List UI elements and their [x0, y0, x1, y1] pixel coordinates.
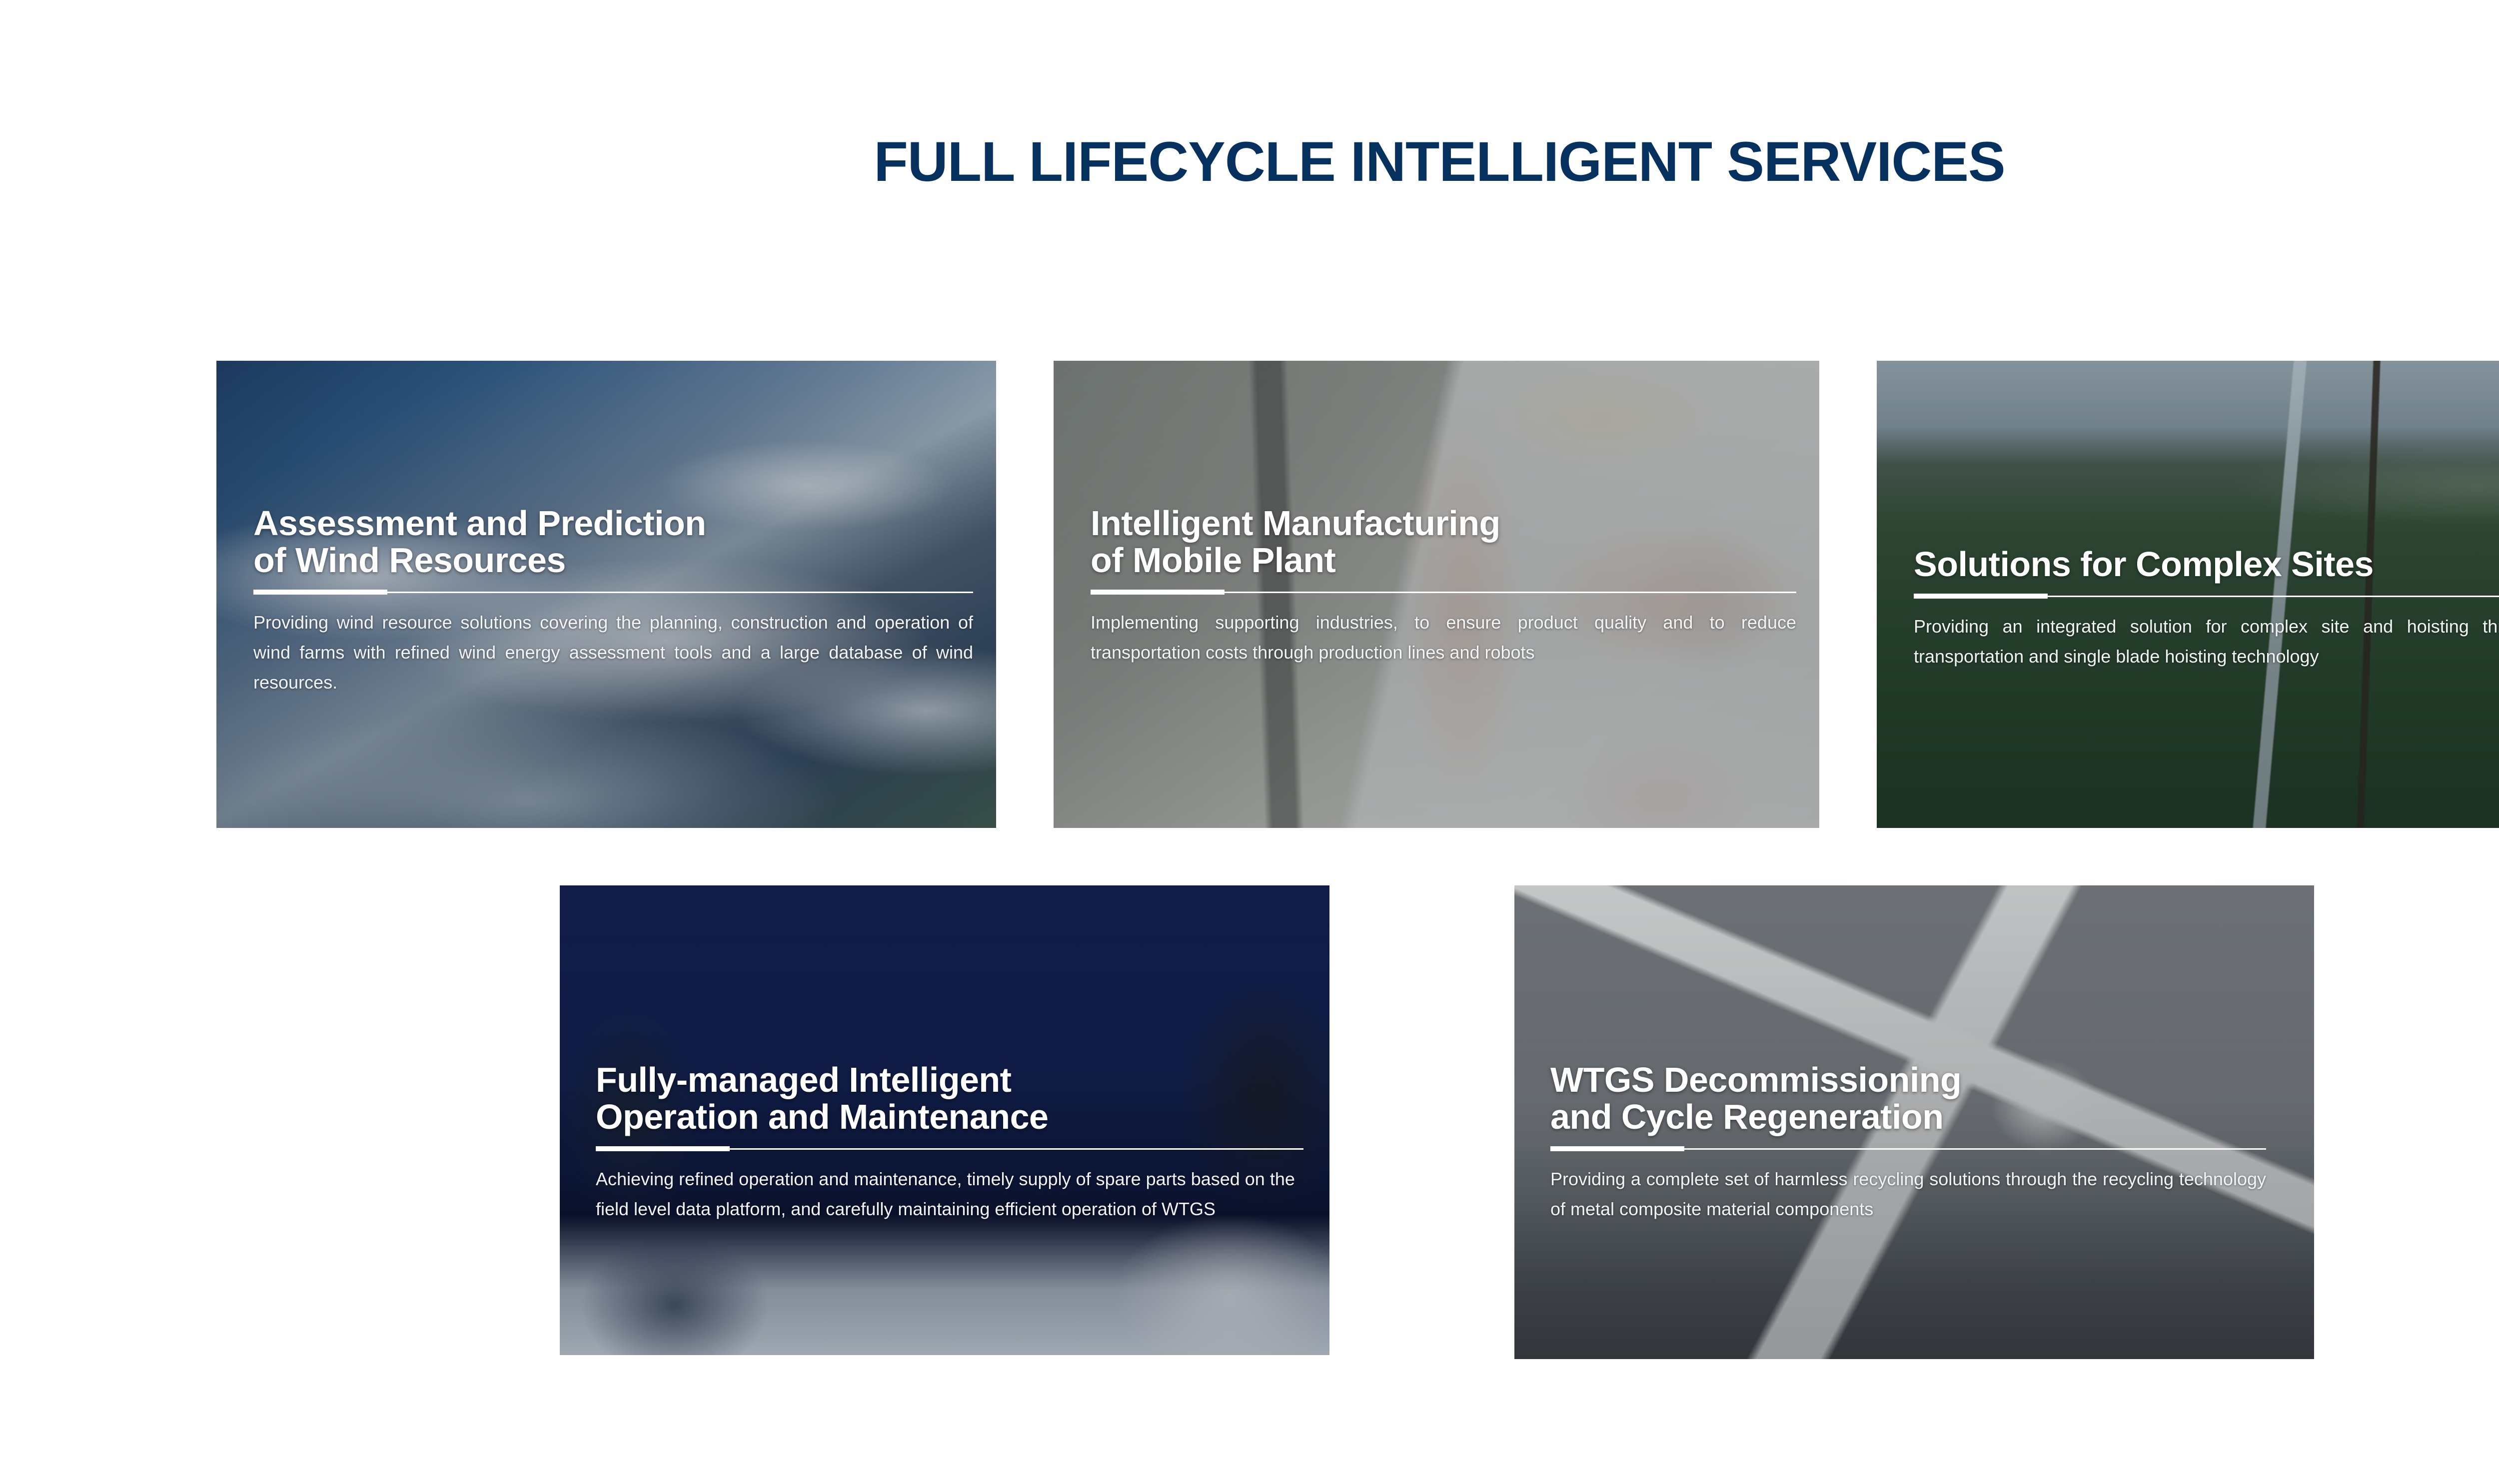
card-title: Assessment and Prediction of Wind Resour…: [253, 505, 973, 579]
card-content: Assessment and Prediction of Wind Resour…: [253, 505, 973, 698]
card-divider-thick-rule: [596, 1146, 730, 1151]
card-content: WTGS Decommissioning and Cycle Regenerat…: [1550, 1061, 2266, 1224]
card-title: Solutions for Complex Sites: [1914, 546, 2499, 583]
card-description: Providing a complete set of harmless rec…: [1550, 1164, 2266, 1224]
card-divider-thick-rule: [1914, 594, 2048, 599]
card-title: Fully-managed Intelligent Operation and …: [596, 1061, 1303, 1135]
card-title: WTGS Decommissioning and Cycle Regenerat…: [1550, 1061, 2266, 1135]
card-divider-thick-rule: [1550, 1146, 1684, 1151]
service-card-fully-managed-intelligent-operation-and-maintenance[interactable]: Fully-managed Intelligent Operation and …: [560, 885, 1329, 1355]
service-card-wtgs-decommissioning-and-cycle-regeneration[interactable]: WTGS Decommissioning and Cycle Regenerat…: [1514, 885, 2314, 1359]
card-title-line-1: Solutions for Complex Sites: [1914, 545, 2374, 584]
card-title-line-1: Intelligent Manufacturing: [1091, 504, 1500, 543]
card-divider: [596, 1146, 1303, 1151]
card-description: Providing an integrated solution for com…: [1914, 612, 2499, 672]
card-title-line-2: of Mobile Plant: [1091, 541, 1335, 580]
card-divider: [1550, 1146, 2266, 1151]
service-card-intelligent-manufacturing-of-mobile-plant[interactable]: Intelligent Manufacturing of Mobile Plan…: [1054, 361, 1819, 828]
card-divider: [253, 590, 973, 595]
card-title: Intelligent Manufacturing of Mobile Plan…: [1091, 505, 1796, 579]
card-title-line-2: and Cycle Regeneration: [1550, 1097, 1943, 1136]
card-content: Intelligent Manufacturing of Mobile Plan…: [1091, 505, 1796, 668]
card-content: Fully-managed Intelligent Operation and …: [596, 1061, 1303, 1224]
card-divider: [1914, 594, 2499, 599]
card-divider-thick-rule: [1091, 590, 1225, 595]
card-divider-thick-rule: [253, 590, 387, 595]
card-content: Solutions for Complex Sites Providing an…: [1914, 546, 2499, 672]
card-description: Providing wind resource solutions coveri…: [253, 608, 973, 698]
card-title-line-2: of Wind Resources: [253, 541, 566, 580]
card-title-line-1: WTGS Decommissioning: [1550, 1060, 1961, 1099]
card-description: Achieving refined operation and maintena…: [596, 1164, 1303, 1224]
service-card-assessment-and-prediction-of-wind-resources[interactable]: Assessment and Prediction of Wind Resour…: [216, 361, 996, 828]
card-title-line-1: Fully-managed Intelligent: [596, 1060, 1011, 1099]
service-card-solutions-for-complex-sites[interactable]: Solutions for Complex Sites Providing an…: [1877, 361, 2499, 828]
page-title: FULL LIFECYCLE INTELLIGENT SERVICES: [0, 134, 2499, 190]
card-title-line-1: Assessment and Prediction: [253, 504, 706, 543]
card-title-line-2: Operation and Maintenance: [596, 1097, 1048, 1136]
card-divider: [1091, 590, 1796, 595]
card-description: Implementing supporting industries, to e…: [1091, 608, 1796, 668]
